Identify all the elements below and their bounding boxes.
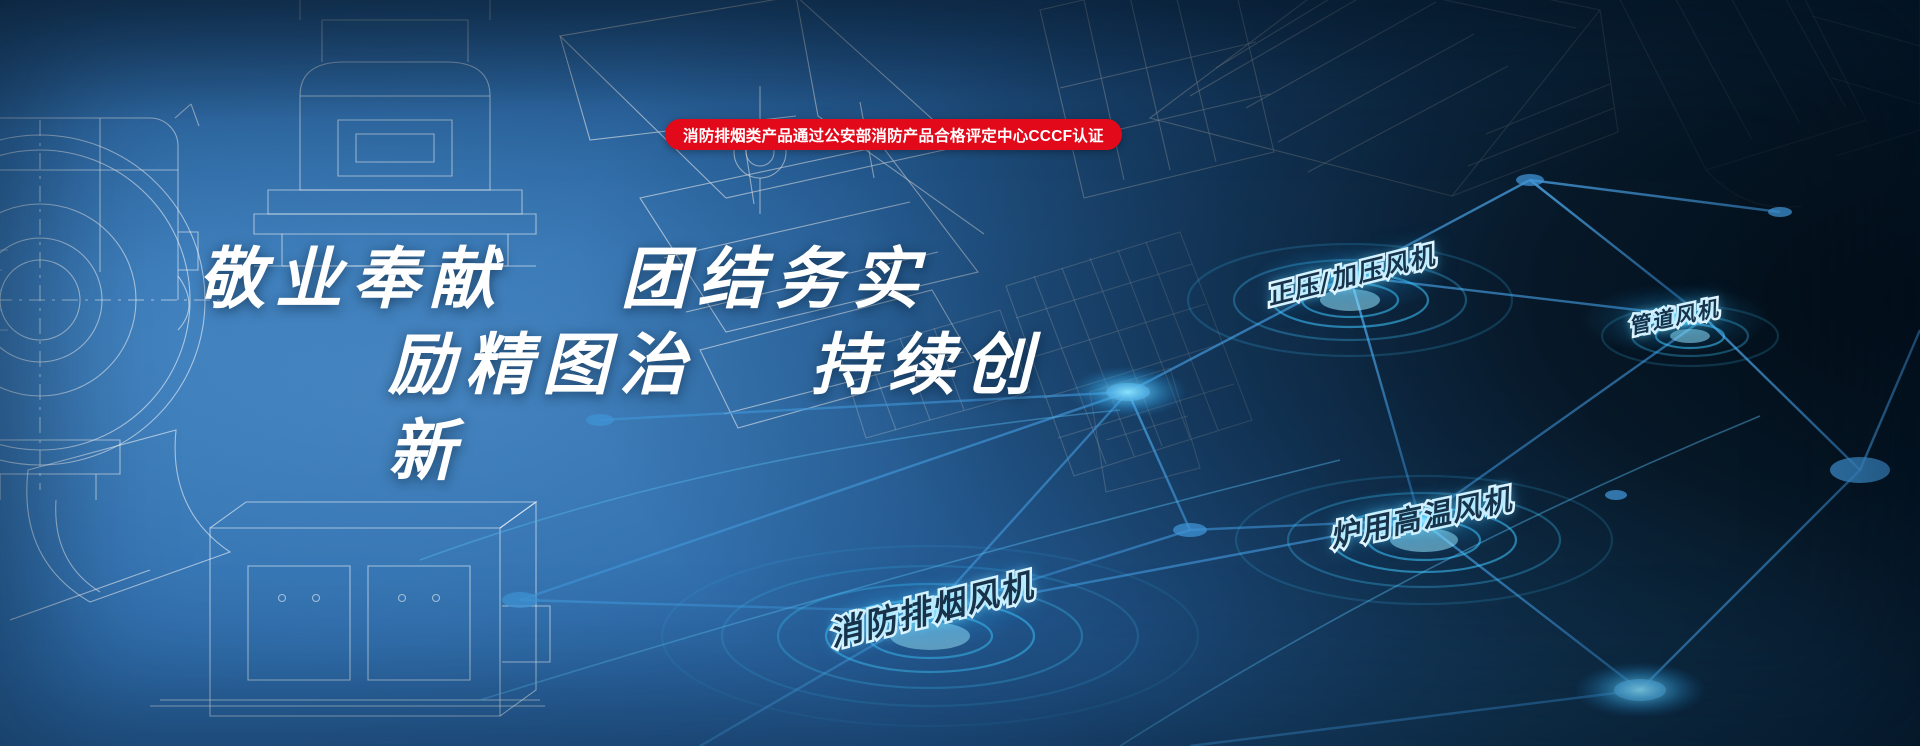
ground-rings-overlay (0, 0, 1920, 746)
hero-banner: 消防排烟类产品通过公安部消防产品合格评定中心CCCF认证 敬业奉献 团结务实 励… (0, 0, 1920, 746)
certification-badge: 消防排烟类产品通过公安部消防产品合格评定中心CCCF认证 (665, 119, 1122, 150)
